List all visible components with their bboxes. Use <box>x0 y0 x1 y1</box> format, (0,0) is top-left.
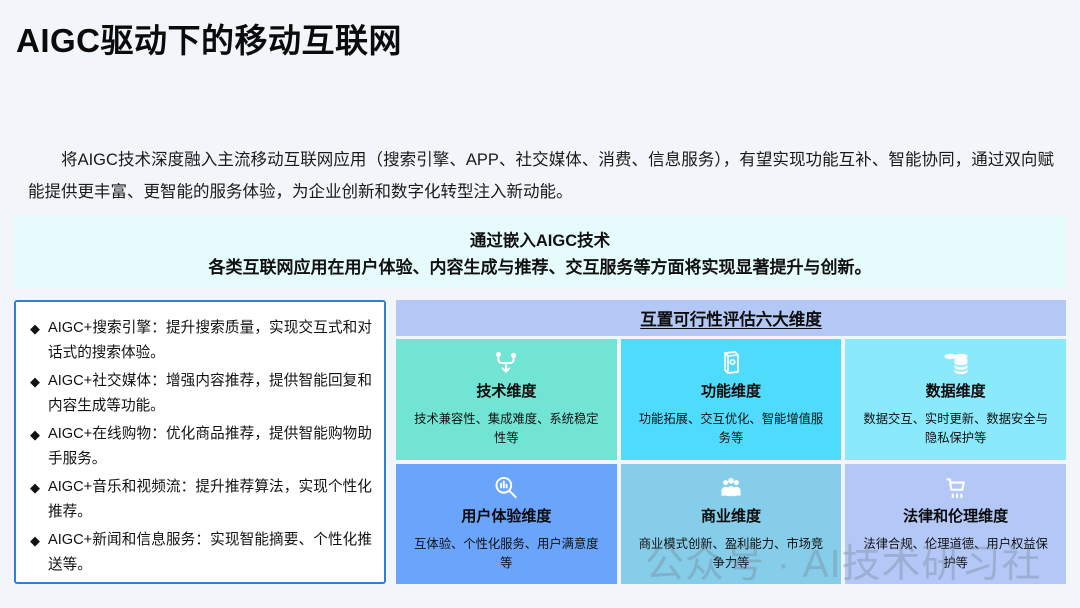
diamond-bullet-icon: ◆ <box>30 422 40 447</box>
list-item-label: AIGC+新闻和信息服务：实现智能摘要、个性化推送等。 <box>48 528 372 578</box>
banner-line-2: 各类互联网应用在用户体验、内容生成与推荐、交互服务等方面将实现显著提升与创新。 <box>209 253 872 278</box>
dimension-description: 商业模式创新、盈利能力、市场竞争力等 <box>636 535 826 573</box>
dimension-title: 技术维度 <box>476 380 536 401</box>
list-item: ◆ AIGC+社交媒体：增强内容推荐，提供智能回复和内容生成等功能。 <box>30 369 372 419</box>
dimension-description: 法律合规、伦理道德、用户权益保护等 <box>861 535 1051 573</box>
list-item-label: AIGC+搜索引擎：提升搜索质量，实现交互式和对话式的搜索体验。 <box>48 316 372 366</box>
function-book-icon <box>716 348 746 378</box>
diamond-bullet-icon: ◆ <box>30 369 40 394</box>
list-item: ◆ AIGC+音乐和视频流：提升推荐算法，实现个性化推荐。 <box>30 475 372 525</box>
list-item: ◆ AIGC+新闻和信息服务：实现智能摘要、个性化推送等。 <box>30 528 372 578</box>
list-item-label: AIGC+社交媒体：增强内容推荐，提供智能回复和内容生成等功能。 <box>48 369 372 419</box>
dimension-description: 功能拓展、交互优化、智能增值服务等 <box>636 410 826 448</box>
diamond-bullet-icon: ◆ <box>30 528 40 553</box>
banner-line-1: 通过嵌入AIGC技术 <box>470 227 610 251</box>
dimension-card-data[interactable]: 数据维度 数据交互、实时更新、数据安全与隐私保护等 <box>845 339 1066 460</box>
dimension-description: 互体验、个性化服务、用户满意度等 <box>411 535 601 573</box>
dimension-description: 技术兼容性、集成难度、系统稳定性等 <box>411 410 601 448</box>
business-people-icon <box>716 473 746 503</box>
dimension-card-business[interactable]: 商业维度 商业模式创新、盈利能力、市场竞争力等 <box>621 464 842 585</box>
dimension-title: 用户体验维度 <box>461 505 551 526</box>
dimension-title: 功能维度 <box>701 380 761 401</box>
highlight-banner: 通过嵌入AIGC技术 各类互联网应用在用户体验、内容生成与推荐、交互服务等方面将… <box>14 216 1066 288</box>
dimension-description: 数据交互、实时更新、数据安全与隐私保护等 <box>861 410 1051 448</box>
data-coins-icon <box>941 348 971 378</box>
dimension-title: 商业维度 <box>701 505 761 526</box>
list-item-label: AIGC+音乐和视频流：提升推荐算法，实现个性化推荐。 <box>48 475 372 525</box>
dimension-matrix: 互置可行性评估六大维度 技术维度 技术兼容性、集成难度、系统稳定性等 <box>396 300 1066 584</box>
list-item: ◆ AIGC+在线购物：优化商品推荐，提供智能购物助手服务。 <box>30 422 372 472</box>
matrix-grid: 技术维度 技术兼容性、集成难度、系统稳定性等 功能维度 功能拓展、交互优化、智能… <box>396 339 1066 584</box>
page-title: AIGC驱动下的移动互联网 <box>16 14 402 62</box>
dimension-card-function[interactable]: 功能维度 功能拓展、交互优化、智能增值服务等 <box>621 339 842 460</box>
diamond-bullet-icon: ◆ <box>30 475 40 500</box>
diamond-bullet-icon: ◆ <box>30 316 40 341</box>
dimension-title: 数据维度 <box>926 380 986 401</box>
intro-paragraph: 将AIGC技术深度融入主流移动互联网应用（搜索引擎、APP、社交媒体、消费、信息… <box>28 144 1054 208</box>
dimension-card-legal-ethics[interactable]: 法律和伦理维度 法律合规、伦理道德、用户权益保护等 <box>845 464 1066 585</box>
list-item-label: AIGC+在线购物：优化商品推荐，提供智能购物助手服务。 <box>48 422 372 472</box>
slide-root: AIGC驱动下的移动互联网 将AIGC技术深度融入主流移动互联网应用（搜索引擎、… <box>0 0 1080 608</box>
dimension-title: 法律和伦理维度 <box>903 505 1008 526</box>
technology-branch-icon <box>491 348 521 378</box>
legal-cart-icon <box>941 473 971 503</box>
matrix-header-title: 互置可行性评估六大维度 <box>396 300 1066 336</box>
dimension-card-technology[interactable]: 技术维度 技术兼容性、集成难度、系统稳定性等 <box>396 339 617 460</box>
list-item: ◆ AIGC+搜索引擎：提升搜索质量，实现交互式和对话式的搜索体验。 <box>30 316 372 366</box>
dimension-card-user-experience[interactable]: 用户体验维度 互体验、个性化服务、用户满意度等 <box>396 464 617 585</box>
user-experience-magnifier-icon <box>491 473 521 503</box>
aigc-applications-card: ◆ AIGC+搜索引擎：提升搜索质量，实现交互式和对话式的搜索体验。 ◆ AIG… <box>14 300 386 584</box>
